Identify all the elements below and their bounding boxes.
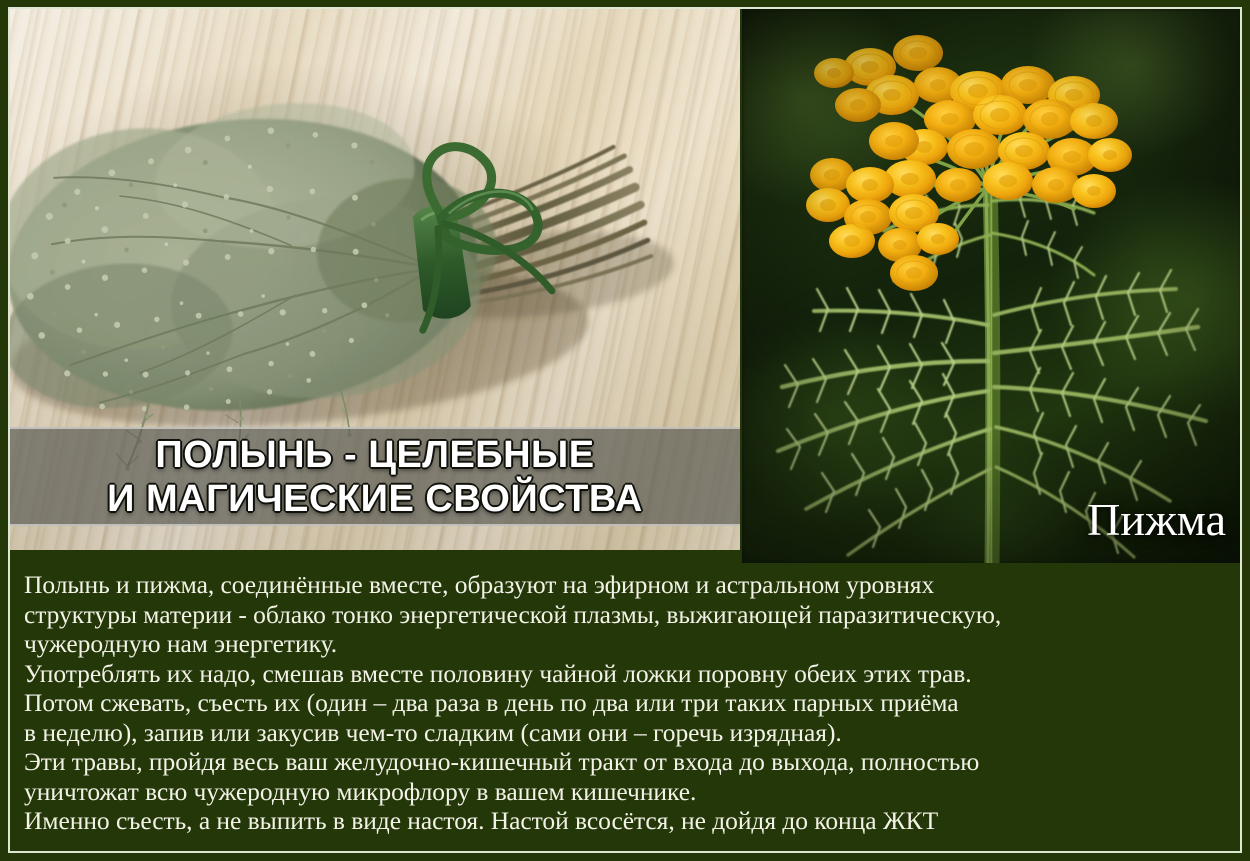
wormwood-photo: ПОЛЫНЬ - ЦЕЛЕБНЫЕ И МАГИЧЕСКИЕ СВОЙСТВА: [10, 9, 740, 550]
photo-vignette: [742, 9, 1242, 563]
paragraph-4: Именно съесть, а не выпить в виде настоя…: [24, 806, 1226, 836]
tansy-photo: Пижма: [742, 9, 1242, 563]
paragraph-2: Употреблять их надо, смешав вместе полов…: [24, 659, 1226, 748]
left-caption-line-1: ПОЛЫНЬ - ЦЕЛЕБНЫЕ: [155, 433, 594, 477]
paragraph-1: Полынь и пижма, соединённые вместе, обра…: [24, 570, 1226, 659]
left-caption-line-2: И МАГИЧЕСКИЕ СВОЙСТВА: [107, 477, 643, 521]
paragraph-3: Эти травы, пройдя весь ваш желудочно-киш…: [24, 747, 1226, 806]
right-photo-caption: Пижма: [1087, 495, 1226, 545]
left-photo-caption-band: ПОЛЫНЬ - ЦЕЛЕБНЫЕ И МАГИЧЕСКИЕ СВОЙСТВА: [10, 427, 740, 526]
poster-root: ПОЛЫНЬ - ЦЕЛЕБНЫЕ И МАГИЧЕСКИЕ СВОЙСТВА: [0, 0, 1250, 861]
body-text-panel: Полынь и пижма, соединённые вместе, обра…: [10, 566, 1240, 851]
